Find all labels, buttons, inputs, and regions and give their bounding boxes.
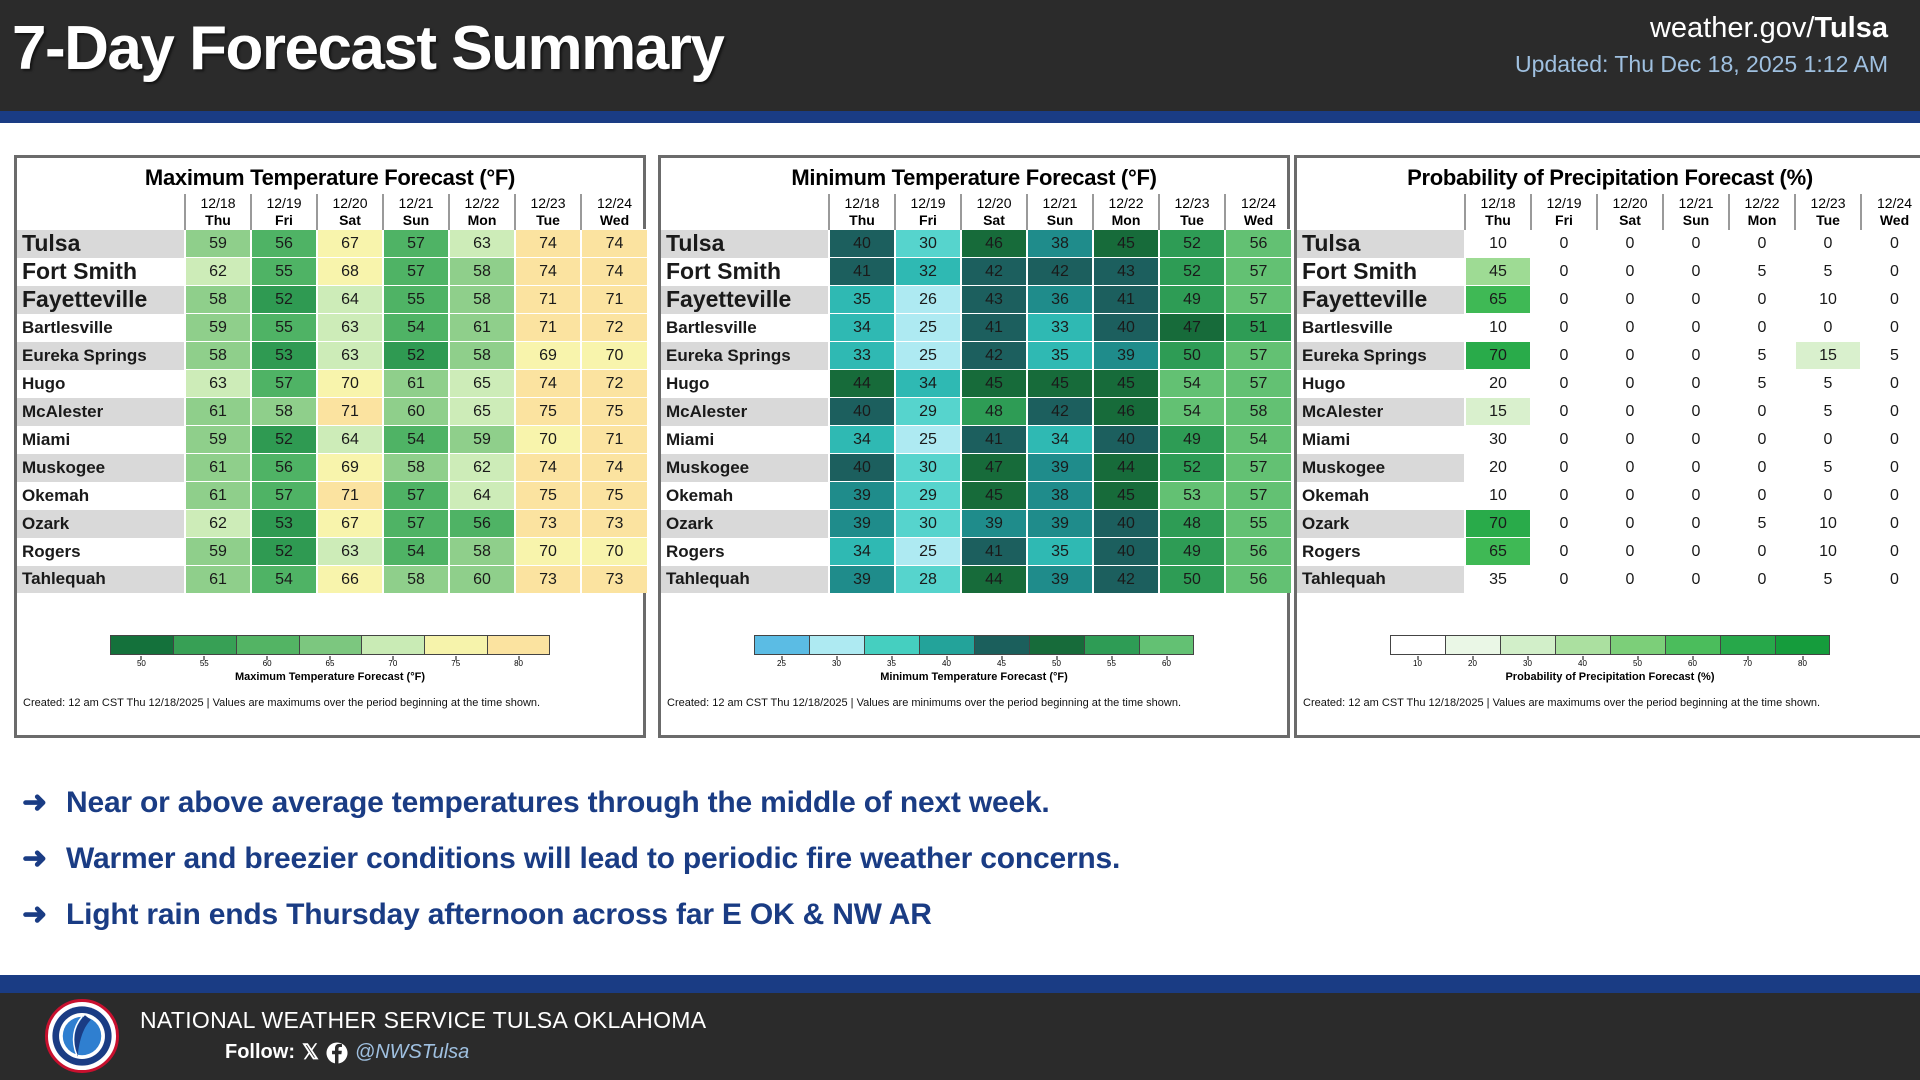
- forecast-cell: 41: [961, 426, 1027, 454]
- table-row: Okemah10000000: [1297, 482, 1920, 510]
- key-message-text: Near or above average temperatures throu…: [66, 780, 1050, 826]
- table-row: Okemah61577157647575: [17, 482, 647, 510]
- forecast-cell: 0: [1597, 342, 1663, 370]
- row-city-label: Okemah: [1297, 482, 1465, 510]
- forecast-cell: 62: [185, 258, 251, 286]
- forecast-cell: 75: [515, 482, 581, 510]
- column-header-weekday: Thu: [1466, 212, 1530, 229]
- legend-tick-label: 40: [1578, 659, 1587, 668]
- column-header-date: 12/21: [398, 195, 433, 211]
- forecast-cell: 0: [1861, 230, 1920, 258]
- forecast-cell: 0: [1663, 454, 1729, 482]
- forecast-cell: 0: [1531, 230, 1597, 258]
- footer-follow-block: Follow: 𝕏 @NWSTulsa: [225, 1041, 469, 1064]
- forecast-cell: 52: [251, 426, 317, 454]
- forecast-cell: 59: [185, 538, 251, 566]
- panel-precip-probability: Probability of Precipitation Forecast (%…: [1294, 155, 1920, 738]
- forecast-cell: 54: [383, 314, 449, 342]
- column-header-date: 12/20: [332, 195, 367, 211]
- column-header-date: 12/18: [844, 195, 879, 211]
- legend-tick-label: 55: [1107, 659, 1116, 668]
- column-header-date: 12/19: [910, 195, 945, 211]
- forecast-cell: 29: [895, 398, 961, 426]
- forecast-cell: 62: [185, 510, 251, 538]
- column-header-date: 12/20: [976, 195, 1011, 211]
- table-row: Rogers59526354587070: [17, 538, 647, 566]
- forecast-cell: 43: [1093, 258, 1159, 286]
- forecast-cell: 62: [449, 454, 515, 482]
- row-city-label: Muskogee: [1297, 454, 1465, 482]
- forecast-cell: 5: [1729, 258, 1795, 286]
- forecast-cell: 30: [1465, 426, 1531, 454]
- forecast-cell: 57: [1225, 454, 1291, 482]
- forecast-cell: 0: [1861, 510, 1920, 538]
- forecast-cell: 10: [1795, 286, 1861, 314]
- row-city-label: Muskogee: [17, 454, 185, 482]
- table-row: Ozark39303939404855: [661, 510, 1291, 538]
- column-header-weekday: Wed: [582, 212, 647, 229]
- column-header-weekday: Mon: [1730, 212, 1794, 229]
- forecast-cell: 58: [1225, 398, 1291, 426]
- footer-accent-rule: [0, 975, 1920, 993]
- column-header-weekday: Sun: [384, 212, 448, 229]
- forecast-cell: 34: [829, 538, 895, 566]
- forecast-cell: 57: [1225, 482, 1291, 510]
- forecast-cell: 42: [961, 342, 1027, 370]
- column-header-weekday: Thu: [830, 212, 894, 229]
- table-row: Bartlesville34254133404751: [661, 314, 1291, 342]
- legend-tick-label: 60: [263, 659, 272, 668]
- column-header-day-wed: 12/24Wed: [1861, 194, 1920, 230]
- table-row: Miami59526454597071: [17, 426, 647, 454]
- column-header-date: 12/24: [1877, 195, 1912, 211]
- legend-tick-label: 50: [137, 659, 146, 668]
- legend-tick-label: 10: [1413, 659, 1422, 668]
- forecast-cell: 63: [317, 314, 383, 342]
- forecast-cell: 61: [185, 398, 251, 426]
- forecast-cell: 36: [1027, 286, 1093, 314]
- table-row: Bartlesville59556354617172: [17, 314, 647, 342]
- forecast-cell: 0: [1861, 426, 1920, 454]
- forecast-cell: 0: [1531, 286, 1597, 314]
- column-header-date: 12/24: [1241, 195, 1276, 211]
- forecast-cell: 64: [449, 482, 515, 510]
- column-header-weekday: Tue: [1796, 212, 1860, 229]
- forecast-cell: 65: [1465, 286, 1531, 314]
- forecast-cell: 0: [1729, 482, 1795, 510]
- forecast-cell: 54: [251, 566, 317, 594]
- legend-swatch: [974, 635, 1029, 655]
- table-row: Fayetteville58526455587171: [17, 286, 647, 314]
- forecast-cell: 67: [317, 510, 383, 538]
- forecast-cell: 67: [317, 230, 383, 258]
- table-row: Miami34254134404954: [661, 426, 1291, 454]
- forecast-cell: 38: [1027, 482, 1093, 510]
- color-legend: 1020304050607080Probability of Precipita…: [1297, 635, 1920, 683]
- forecast-cell: 56: [251, 230, 317, 258]
- row-city-label: Miami: [1297, 426, 1465, 454]
- forecast-cell: 74: [515, 258, 581, 286]
- legend-tick-label: 20: [1468, 659, 1477, 668]
- forecast-cell: 60: [449, 566, 515, 594]
- forecast-cell: 58: [449, 342, 515, 370]
- forecast-cell: 75: [515, 398, 581, 426]
- forecast-cell: 25: [895, 426, 961, 454]
- forecast-cell: 34: [829, 314, 895, 342]
- forecast-cell: 25: [895, 538, 961, 566]
- forecast-cell: 64: [317, 286, 383, 314]
- forecast-cell: 0: [1729, 426, 1795, 454]
- forecast-cell: 0: [1663, 314, 1729, 342]
- row-city-label: McAlester: [17, 398, 185, 426]
- legend-swatch: [809, 635, 864, 655]
- forecast-cell: 40: [1093, 426, 1159, 454]
- forecast-cell: 52: [1159, 230, 1225, 258]
- legend-tick-label: 60: [1688, 659, 1697, 668]
- forecast-cell: 70: [515, 538, 581, 566]
- forecast-cell: 0: [1597, 286, 1663, 314]
- forecast-cell: 70: [581, 538, 647, 566]
- forecast-cell: 50: [1159, 342, 1225, 370]
- forecast-cell: 56: [1225, 230, 1291, 258]
- forecast-cell: 45: [961, 370, 1027, 398]
- row-city-label: Fayetteville: [17, 286, 185, 314]
- facebook-icon[interactable]: [326, 1042, 348, 1064]
- forecast-cell: 39: [829, 482, 895, 510]
- forecast-cell: 0: [1531, 398, 1597, 426]
- column-header-date: 12/21: [1042, 195, 1077, 211]
- forecast-cell: 63: [317, 342, 383, 370]
- panel-max-temperature: Maximum Temperature Forecast (°F)12/18Th…: [14, 155, 646, 738]
- forecast-cell: 63: [185, 370, 251, 398]
- column-header-day-fri: 12/19Fri: [1531, 194, 1597, 230]
- column-header-day-mon: 12/22Mon: [449, 194, 515, 230]
- legend-swatch: [1084, 635, 1139, 655]
- forecast-cell: 57: [251, 370, 317, 398]
- forecast-cell: 71: [317, 398, 383, 426]
- forecast-cell: 49: [1159, 426, 1225, 454]
- legend-swatch: [1720, 635, 1775, 655]
- table-row: Okemah39294538455357: [661, 482, 1291, 510]
- forecast-cell: 57: [383, 258, 449, 286]
- arrow-right-icon: ➜: [22, 836, 66, 882]
- forecast-cell: 0: [1861, 258, 1920, 286]
- forecast-cell: 64: [317, 426, 383, 454]
- forecast-cell: 5: [1795, 258, 1861, 286]
- forecast-cell: 30: [895, 510, 961, 538]
- forecast-cell: 75: [581, 482, 647, 510]
- legend-tick-label: 50: [1633, 659, 1642, 668]
- legend-swatch: [919, 635, 974, 655]
- x-twitter-icon[interactable]: 𝕏: [302, 1042, 319, 1063]
- table-row: Tahlequah39284439425056: [661, 566, 1291, 594]
- table-corner-cell: [661, 194, 829, 230]
- forecast-cell: 41: [829, 258, 895, 286]
- forecast-cell: 41: [961, 314, 1027, 342]
- forecast-cell: 20: [1465, 370, 1531, 398]
- legend-tick-label: 75: [451, 659, 460, 668]
- forecast-cell: 74: [581, 258, 647, 286]
- table-corner-cell: [17, 194, 185, 230]
- site-url-office: Tulsa: [1814, 12, 1888, 44]
- table-row: Fort Smith62556857587474: [17, 258, 647, 286]
- forecast-cell: 0: [1597, 314, 1663, 342]
- column-header-weekday: Mon: [1094, 212, 1158, 229]
- panel-title: Maximum Temperature Forecast (°F): [17, 158, 643, 194]
- row-city-label: Bartlesville: [1297, 314, 1465, 342]
- row-city-label: Eureka Springs: [661, 342, 829, 370]
- forecast-cell: 5: [1729, 370, 1795, 398]
- forecast-cell: 52: [1159, 258, 1225, 286]
- forecast-cell: 57: [1225, 258, 1291, 286]
- legend-swatch: [299, 635, 362, 655]
- forecast-cell: 56: [449, 510, 515, 538]
- forecast-cell: 70: [581, 342, 647, 370]
- table-row: Miami30000000: [1297, 426, 1920, 454]
- forecast-cell: 71: [581, 426, 647, 454]
- row-city-label: Rogers: [661, 538, 829, 566]
- forecast-cell: 34: [895, 370, 961, 398]
- table-row: McAlester61587160657575: [17, 398, 647, 426]
- forecast-cell: 54: [1159, 370, 1225, 398]
- row-city-label: Hugo: [661, 370, 829, 398]
- forecast-cell: 58: [383, 566, 449, 594]
- forecast-cell: 61: [185, 566, 251, 594]
- forecast-cell: 70: [515, 426, 581, 454]
- forecast-cell: 73: [581, 510, 647, 538]
- forecast-cell: 0: [1729, 314, 1795, 342]
- row-city-label: Eureka Springs: [1297, 342, 1465, 370]
- column-header-weekday: Tue: [1160, 212, 1224, 229]
- column-header-day-tue: 12/23Tue: [1795, 194, 1861, 230]
- forecast-panels: Maximum Temperature Forecast (°F)12/18Th…: [0, 155, 1920, 735]
- forecast-cell: 15: [1465, 398, 1531, 426]
- forecast-cell: 26: [895, 286, 961, 314]
- forecast-cell: 29: [895, 482, 961, 510]
- column-header-date: 12/21: [1678, 195, 1713, 211]
- header-right-block: weather.gov/Tulsa Updated: Thu Dec 18, 2…: [1515, 8, 1888, 80]
- forecast-cell: 40: [829, 454, 895, 482]
- forecast-cell: 0: [1795, 482, 1861, 510]
- forecast-cell: 0: [1597, 230, 1663, 258]
- forecast-cell: 0: [1531, 510, 1597, 538]
- column-header-day-fri: 12/19Fri: [251, 194, 317, 230]
- column-header-day-thu: 12/18Thu: [185, 194, 251, 230]
- table-row: Tulsa59566757637474: [17, 230, 647, 258]
- arrow-right-icon: ➜: [22, 892, 66, 938]
- forecast-cell: 56: [1225, 538, 1291, 566]
- forecast-cell: 59: [185, 230, 251, 258]
- forecast-cell: 0: [1861, 398, 1920, 426]
- forecast-cell: 45: [1093, 230, 1159, 258]
- table-row: Tulsa40304638455256: [661, 230, 1291, 258]
- forecast-cell: 74: [581, 454, 647, 482]
- forecast-cell: 0: [1663, 398, 1729, 426]
- row-city-label: Okemah: [17, 482, 185, 510]
- color-legend: 50556065707580Maximum Temperature Foreca…: [17, 635, 643, 683]
- panel-min-temperature: Minimum Temperature Forecast (°F)12/18Th…: [658, 155, 1290, 738]
- row-city-label: Tulsa: [17, 230, 185, 258]
- forecast-table: 12/18Thu12/19Fri12/20Sat12/21Sun12/22Mon…: [17, 194, 647, 593]
- table-row: Hugo44344545455457: [661, 370, 1291, 398]
- table-row: Rogers650000100: [1297, 538, 1920, 566]
- legend-swatch: [1775, 635, 1830, 655]
- row-city-label: Fort Smith: [17, 258, 185, 286]
- row-city-label: Tulsa: [661, 230, 829, 258]
- column-header-weekday: Sun: [1028, 212, 1092, 229]
- column-header-day-thu: 12/18Thu: [829, 194, 895, 230]
- forecast-cell: 0: [1663, 566, 1729, 594]
- column-header-day-mon: 12/22Mon: [1093, 194, 1159, 230]
- forecast-cell: 0: [1729, 566, 1795, 594]
- forecast-cell: 54: [1159, 398, 1225, 426]
- forecast-cell: 41: [1093, 286, 1159, 314]
- column-header-date: 12/22: [1744, 195, 1779, 211]
- follow-label: Follow:: [225, 1041, 295, 1064]
- row-city-label: Ozark: [661, 510, 829, 538]
- column-header-day-wed: 12/24Wed: [581, 194, 647, 230]
- legend-swatch: [864, 635, 919, 655]
- forecast-cell: 35: [1027, 342, 1093, 370]
- forecast-cell: 52: [251, 286, 317, 314]
- forecast-cell: 53: [1159, 482, 1225, 510]
- footer-org-name: NATIONAL WEATHER SERVICE TULSA OKLAHOMA: [140, 1007, 706, 1034]
- legend-swatch: [487, 635, 550, 655]
- legend-swatch: [110, 635, 173, 655]
- legend-tick-label: 40: [942, 659, 951, 668]
- social-handle[interactable]: @NWSTulsa: [355, 1041, 469, 1064]
- forecast-cell: 71: [515, 314, 581, 342]
- column-header-day-sat: 12/20Sat: [317, 194, 383, 230]
- forecast-cell: 65: [1465, 538, 1531, 566]
- column-header-date: 12/20: [1612, 195, 1647, 211]
- column-header-day-wed: 12/24Wed: [1225, 194, 1291, 230]
- forecast-cell: 70: [317, 370, 383, 398]
- forecast-cell: 28: [895, 566, 961, 594]
- forecast-cell: 48: [961, 398, 1027, 426]
- column-header-weekday: Mon: [450, 212, 514, 229]
- header-accent-rule: [0, 111, 1920, 123]
- panel-footnote: Created: 12 am CST Thu 12/18/2025 | Valu…: [667, 697, 1287, 709]
- table-row: Muskogee20000050: [1297, 454, 1920, 482]
- forecast-cell: 56: [1225, 566, 1291, 594]
- forecast-cell: 41: [961, 538, 1027, 566]
- column-header-date: 12/19: [1546, 195, 1581, 211]
- forecast-cell: 0: [1861, 370, 1920, 398]
- table-row: Fort Smith41324242435257: [661, 258, 1291, 286]
- forecast-cell: 0: [1531, 370, 1597, 398]
- forecast-cell: 66: [317, 566, 383, 594]
- forecast-cell: 45: [1093, 482, 1159, 510]
- forecast-cell: 0: [1729, 538, 1795, 566]
- forecast-cell: 74: [515, 370, 581, 398]
- forecast-cell: 0: [1663, 342, 1729, 370]
- row-city-label: McAlester: [1297, 398, 1465, 426]
- forecast-cell: 45: [1465, 258, 1531, 286]
- nws-logo-icon: [45, 999, 119, 1073]
- forecast-cell: 54: [383, 538, 449, 566]
- forecast-cell: 58: [449, 538, 515, 566]
- row-city-label: Miami: [661, 426, 829, 454]
- forecast-cell: 74: [515, 230, 581, 258]
- forecast-cell: 70: [1465, 342, 1531, 370]
- forecast-cell: 32: [895, 258, 961, 286]
- forecast-cell: 44: [961, 566, 1027, 594]
- column-header-weekday: Sat: [318, 212, 382, 229]
- table-row: Fayetteville650000100: [1297, 286, 1920, 314]
- forecast-cell: 73: [581, 566, 647, 594]
- panel-footnote: Created: 12 am CST Thu 12/18/2025 | Valu…: [1303, 697, 1920, 709]
- key-messages: ➜Near or above average temperatures thro…: [22, 780, 1722, 948]
- legend-tick-label: 30: [1523, 659, 1532, 668]
- site-url: weather.gov/Tulsa: [1515, 8, 1888, 48]
- legend-tick-label: 55: [200, 659, 209, 668]
- forecast-cell: 44: [829, 370, 895, 398]
- row-city-label: Ozark: [17, 510, 185, 538]
- forecast-cell: 5: [1729, 510, 1795, 538]
- column-header-weekday: Fri: [896, 212, 960, 229]
- table-row: Eureka Springs58536352586970: [17, 342, 647, 370]
- legend-swatch: [754, 635, 809, 655]
- legend-swatch: [1029, 635, 1084, 655]
- forecast-cell: 57: [1225, 286, 1291, 314]
- forecast-cell: 33: [1027, 314, 1093, 342]
- row-city-label: McAlester: [661, 398, 829, 426]
- row-city-label: Tulsa: [1297, 230, 1465, 258]
- forecast-cell: 73: [515, 510, 581, 538]
- forecast-cell: 25: [895, 314, 961, 342]
- column-header-date: 12/22: [464, 195, 499, 211]
- forecast-cell: 0: [1597, 398, 1663, 426]
- forecast-cell: 52: [383, 342, 449, 370]
- table-row: Muskogee61566958627474: [17, 454, 647, 482]
- forecast-cell: 58: [449, 286, 515, 314]
- forecast-cell: 0: [1729, 230, 1795, 258]
- forecast-cell: 61: [383, 370, 449, 398]
- forecast-cell: 0: [1597, 426, 1663, 454]
- forecast-cell: 0: [1531, 538, 1597, 566]
- forecast-cell: 0: [1531, 482, 1597, 510]
- forecast-cell: 42: [1027, 398, 1093, 426]
- forecast-cell: 40: [1093, 538, 1159, 566]
- forecast-cell: 42: [1093, 566, 1159, 594]
- forecast-cell: 33: [829, 342, 895, 370]
- forecast-cell: 10: [1795, 538, 1861, 566]
- forecast-cell: 46: [1093, 398, 1159, 426]
- legend-tick-label: 25: [777, 659, 786, 668]
- forecast-cell: 48: [1159, 510, 1225, 538]
- forecast-cell: 25: [895, 342, 961, 370]
- forecast-cell: 68: [317, 258, 383, 286]
- forecast-cell: 0: [1861, 286, 1920, 314]
- forecast-cell: 46: [961, 230, 1027, 258]
- page-title: 7-Day Forecast Summary: [12, 10, 723, 88]
- forecast-cell: 0: [1531, 454, 1597, 482]
- forecast-cell: 75: [581, 398, 647, 426]
- forecast-graphic: 7-Day Forecast Summary weather.gov/Tulsa…: [0, 0, 1920, 1080]
- table-row: Bartlesville10000000: [1297, 314, 1920, 342]
- legend-swatch: [1665, 635, 1720, 655]
- forecast-cell: 39: [1027, 510, 1093, 538]
- forecast-cell: 0: [1531, 566, 1597, 594]
- row-city-label: Bartlesville: [661, 314, 829, 342]
- legend-tick-label: 50: [1052, 659, 1061, 668]
- column-header-weekday: Fri: [1532, 212, 1596, 229]
- table-row: Ozark700005100: [1297, 510, 1920, 538]
- header-bar: 7-Day Forecast Summary weather.gov/Tulsa…: [0, 0, 1920, 111]
- forecast-cell: 35: [1465, 566, 1531, 594]
- table-row: Hugo20000550: [1297, 370, 1920, 398]
